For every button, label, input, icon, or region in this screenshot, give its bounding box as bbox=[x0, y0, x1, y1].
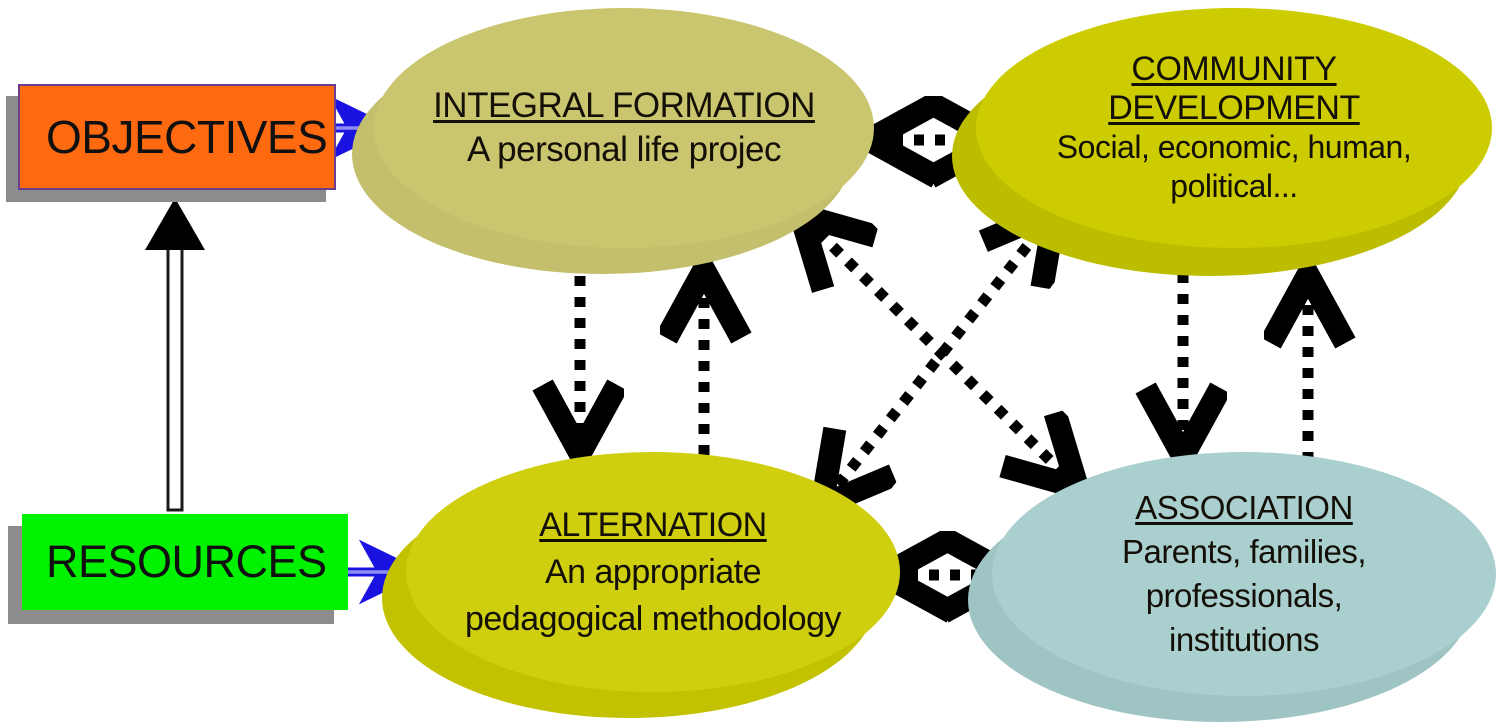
objectives-box[interactable]: OBJECTIVES bbox=[18, 84, 336, 190]
node-alternation-face: ALTERNATION An appropriate pedagogical m… bbox=[406, 452, 900, 692]
diagram-canvas: INTEGRAL FORMATION A personal life proje… bbox=[0, 0, 1500, 723]
node-integral-formation-face: INTEGRAL FORMATION A personal life proje… bbox=[374, 8, 874, 248]
node-association-face: ASSOCIATION Parents, families, professio… bbox=[992, 452, 1496, 696]
node-association-title: ASSOCIATION bbox=[1135, 486, 1353, 530]
resources-box-label: RESOURCES bbox=[22, 536, 327, 588]
node-community-development-subtitle-line-2: political... bbox=[1170, 167, 1297, 206]
node-association-subtitle-line-1: Parents, families, bbox=[1122, 530, 1366, 574]
node-community-development[interactable]: COMMUNITY DEVELOPMENT Social, economic, … bbox=[952, 8, 1492, 280]
node-alternation-title: ALTERNATION bbox=[539, 502, 767, 549]
node-integral-formation-title: INTEGRAL FORMATION bbox=[433, 84, 815, 128]
node-community-development-title-line-2: DEVELOPMENT bbox=[1108, 89, 1359, 128]
objectives-box-label: OBJECTIVES bbox=[20, 110, 327, 164]
node-association-subtitle-line-2: professionals, bbox=[1146, 574, 1343, 618]
node-alternation-subtitle-line-2: pedagogical methodology bbox=[465, 596, 841, 643]
node-community-development-subtitle-line-1: Social, economic, human, bbox=[1057, 128, 1411, 167]
node-alternation-subtitle-line-1: An appropriate bbox=[545, 549, 761, 596]
connector-hit-alternation-association[interactable] bbox=[896, 553, 1014, 599]
node-integral-formation-subtitle-line-1: A personal life projec bbox=[467, 128, 781, 172]
connector-hit-resources-to-objectives[interactable] bbox=[150, 196, 210, 514]
connector-hit-integral-community[interactable] bbox=[880, 118, 1000, 164]
node-integral-formation[interactable]: INTEGRAL FORMATION A personal life proje… bbox=[352, 8, 876, 276]
connector-hit-integral-to-alternation[interactable] bbox=[562, 250, 600, 455]
node-association-subtitle-line-3: institutions bbox=[1169, 618, 1319, 662]
connector-hit-objectives-to-integral[interactable] bbox=[290, 112, 394, 146]
node-community-development-title-line-1: COMMUNITY bbox=[1131, 50, 1336, 89]
connector-hit-alternation-to-integral[interactable] bbox=[686, 270, 724, 465]
connector-hit-resources-to-alternation[interactable] bbox=[328, 556, 428, 590]
connector-hit-community-to-association[interactable] bbox=[1165, 265, 1203, 455]
node-community-development-face: COMMUNITY DEVELOPMENT Social, economic, … bbox=[976, 8, 1492, 248]
node-alternation[interactable]: ALTERNATION An appropriate pedagogical m… bbox=[382, 452, 900, 720]
connector-hit-association-to-community[interactable] bbox=[1290, 275, 1328, 475]
resources-box[interactable]: RESOURCES bbox=[22, 514, 348, 610]
node-association[interactable]: ASSOCIATION Parents, families, professio… bbox=[968, 452, 1496, 723]
